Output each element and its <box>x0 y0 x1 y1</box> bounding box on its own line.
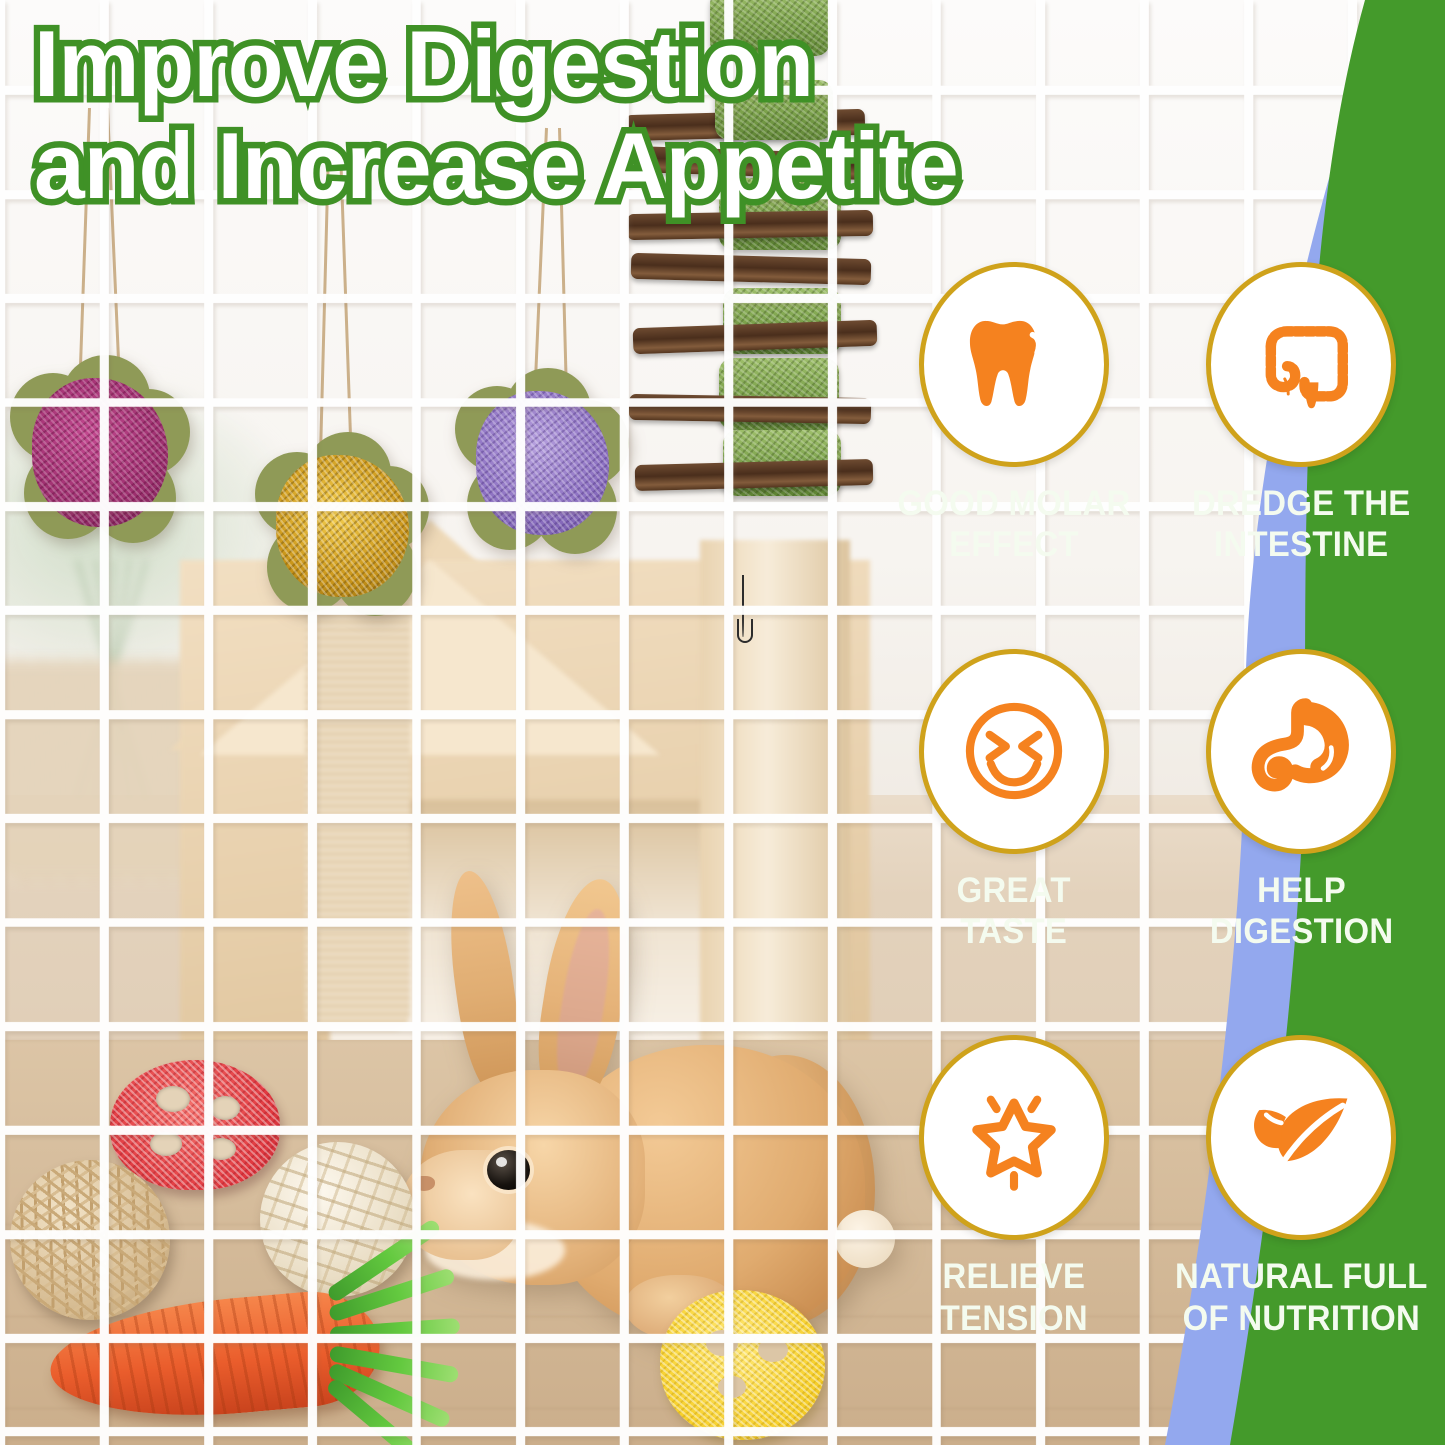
feature-great-taste: GREAT TASTE <box>870 649 1158 1036</box>
feature-icon-badge <box>1206 262 1396 467</box>
feature-help-digestion: HELP DIGESTION <box>1158 649 1445 1036</box>
feature-label: NATURAL FULL OF NUTRITION <box>1175 1256 1428 1339</box>
star-icon <box>956 1080 1072 1196</box>
leaf-icon <box>1243 1080 1359 1196</box>
feature-label: RELIEVE TENSION <box>940 1256 1088 1339</box>
intestine-icon <box>1243 307 1359 423</box>
feature-icon-badge <box>919 649 1109 854</box>
feature-label: GOOD MOLAR EFFECT <box>897 483 1130 566</box>
feature-icon-badge <box>919 1035 1109 1240</box>
feature-icon-badge <box>1206 1035 1396 1240</box>
feature-natural-full-of-nutrition: NATURAL FULL OF NUTRITION <box>1158 1035 1445 1422</box>
tooth-icon <box>956 307 1072 423</box>
feature-good-molar-effect: GOOD MOLAR EFFECT <box>870 262 1158 649</box>
feature-icon-badge <box>919 262 1109 467</box>
smiley-icon <box>956 693 1072 809</box>
product-infographic: Improve Digestion and Increase Appetite … <box>0 0 1445 1445</box>
feature-list: GOOD MOLAR EFFECT DREDGE THE INTESTINE <box>870 262 1445 1422</box>
feature-icon-badge <box>1206 649 1396 854</box>
feature-label: DREDGE THE INTESTINE <box>1192 483 1411 566</box>
feature-dredge-the-intestine: DREDGE THE INTESTINE <box>1158 262 1445 649</box>
stomach-icon <box>1243 693 1359 809</box>
feature-label: HELP DIGESTION <box>1209 870 1393 953</box>
feature-label: GREAT TASTE <box>957 870 1071 953</box>
feature-relieve-tension: RELIEVE TENSION <box>870 1035 1158 1422</box>
